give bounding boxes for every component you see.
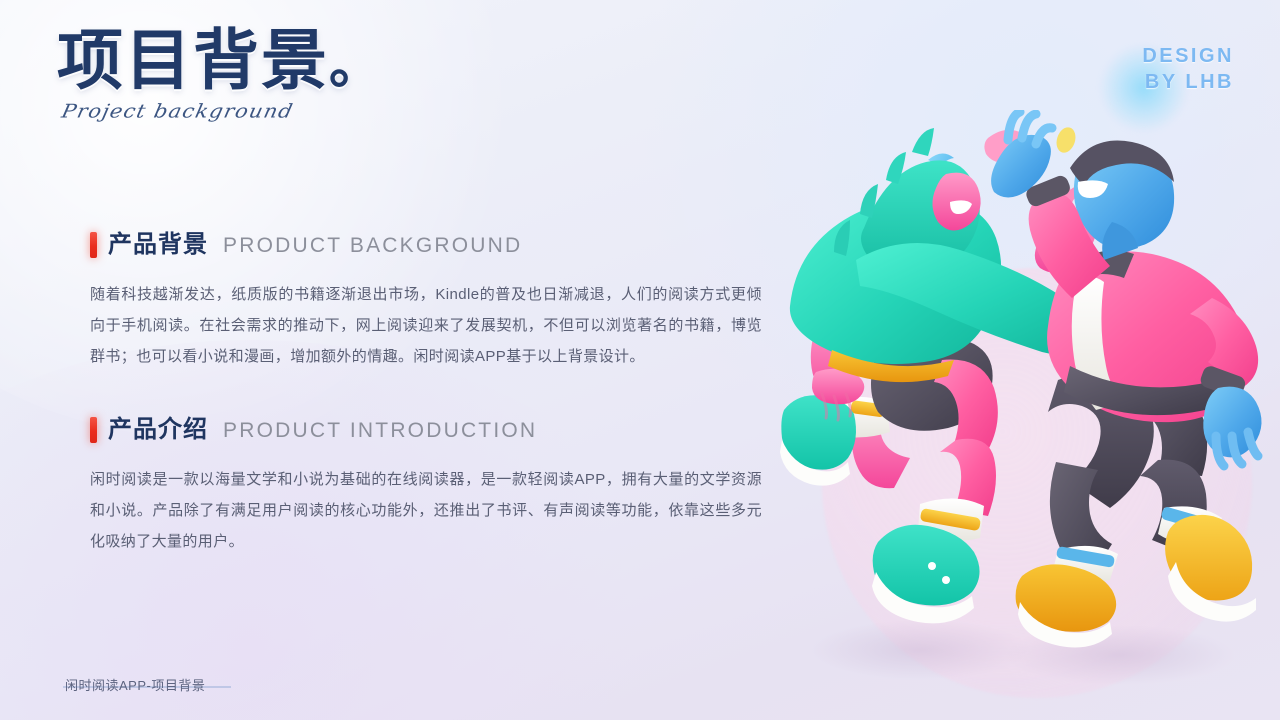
section-body-text: 闲时阅读是一款以海量文学和小说为基础的在线阅读器，是一款轻阅读APP，拥有大量的… xyxy=(90,465,762,557)
page-title-text: 项目背景 xyxy=(57,23,329,97)
page-title-dot: 。 xyxy=(329,37,383,95)
yellow-oval-confetti xyxy=(1053,125,1078,155)
right-figure xyxy=(991,112,1261,648)
accent-bar-icon xyxy=(90,417,97,443)
section-title-cn: 产品介绍 xyxy=(108,418,208,442)
section-product-background: 产品背景 PRODUCT BACKGROUND 随着科技越渐发达，纸质版的书籍逐… xyxy=(90,232,762,372)
left-figure-shoe-lace xyxy=(942,576,950,584)
section-title-cn: 产品背景 xyxy=(108,233,208,257)
page-title: 项目背景。 xyxy=(57,26,383,95)
dino-spike-icon xyxy=(912,128,934,156)
footer-text: 闲时阅读APP-项目背景 xyxy=(63,675,207,694)
footer: 闲时阅读APP-项目背景 xyxy=(63,675,207,694)
section-heading: 产品介绍 PRODUCT INTRODUCTION xyxy=(90,417,762,443)
left-figure-shoe-lace xyxy=(928,562,936,570)
section-heading: 产品背景 PRODUCT BACKGROUND xyxy=(90,232,762,258)
two-people-high-five-illustration xyxy=(760,110,1280,710)
page-subtitle-script: Project background xyxy=(60,100,386,122)
designer-credit: DESIGN BY LHB xyxy=(1142,44,1234,95)
credit-line-1: DESIGN xyxy=(1142,44,1234,70)
section-body-text: 随着科技越渐发达，纸质版的书籍逐渐退出市场，Kindle的普及也日渐减退，人们的… xyxy=(90,280,762,372)
left-figure-shadow xyxy=(810,620,1030,680)
accent-bar-icon xyxy=(90,232,97,258)
section-title-en: PRODUCT INTRODUCTION xyxy=(223,420,537,441)
page-title-block: 项目背景。 Project background xyxy=(57,26,383,123)
illustration-stage xyxy=(760,110,1280,710)
credit-line-2: BY LHB xyxy=(1142,70,1234,96)
slide-root: 项目背景。 Project background DESIGN BY LHB 产… xyxy=(0,0,1280,720)
section-product-introduction: 产品介绍 PRODUCT INTRODUCTION 闲时阅读是一款以海量文学和小… xyxy=(90,417,762,557)
section-title-en: PRODUCT BACKGROUND xyxy=(223,235,522,256)
